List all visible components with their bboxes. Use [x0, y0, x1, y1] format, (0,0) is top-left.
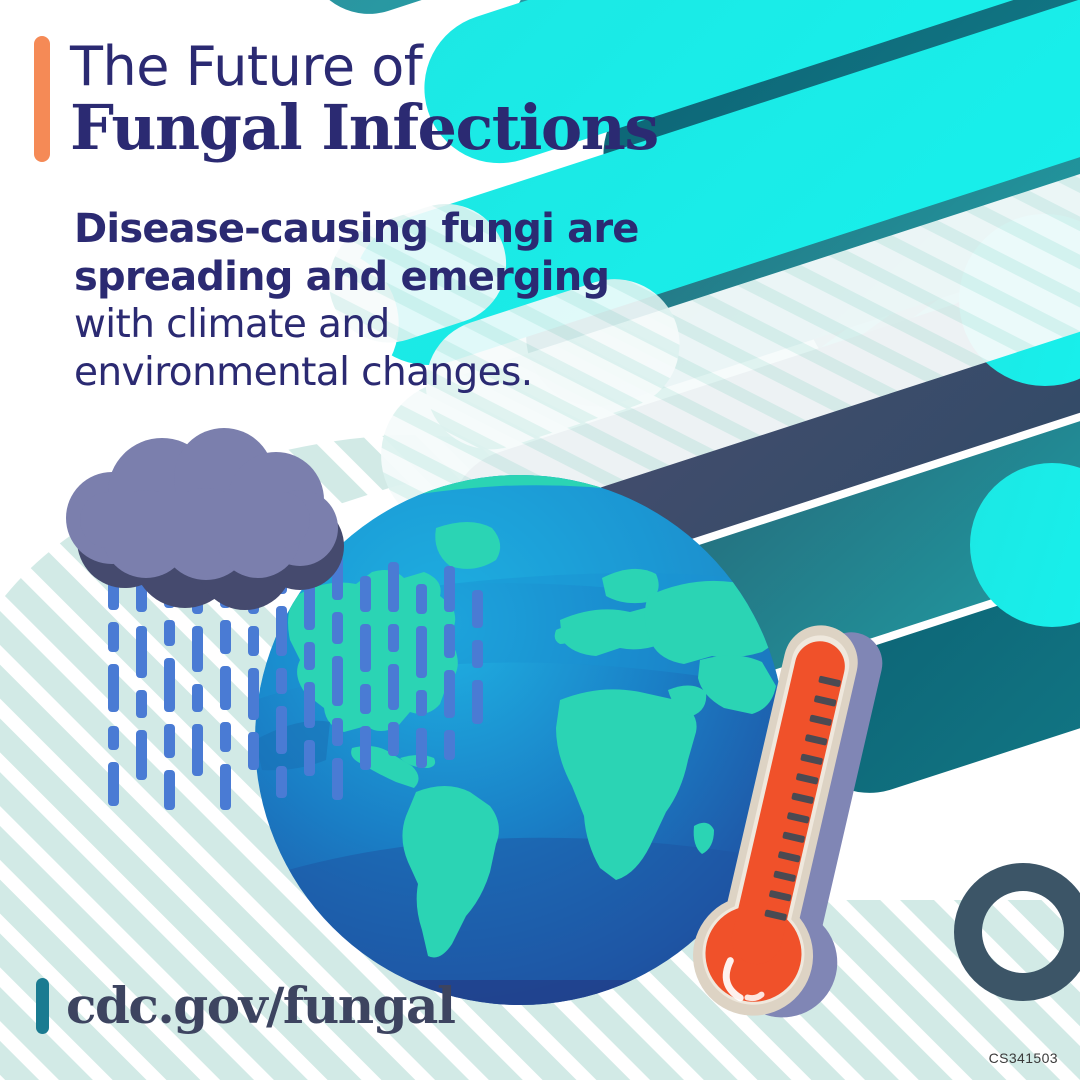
- footer-url-text[interactable]: cdc.gov/fungal: [66, 980, 454, 1032]
- footer-url-block[interactable]: cdc.gov/fungal: [36, 978, 454, 1034]
- cs-publication-code: CS341503: [989, 1050, 1058, 1066]
- illustration-layer: [0, 0, 1080, 1080]
- rain-cloud: [66, 428, 344, 610]
- landmass-asia: [645, 581, 793, 664]
- footer-accent-bar: [36, 978, 49, 1034]
- infographic-poster: The Future of Fungal Infections Disease-…: [0, 0, 1080, 1080]
- cloud-body: [66, 428, 338, 580]
